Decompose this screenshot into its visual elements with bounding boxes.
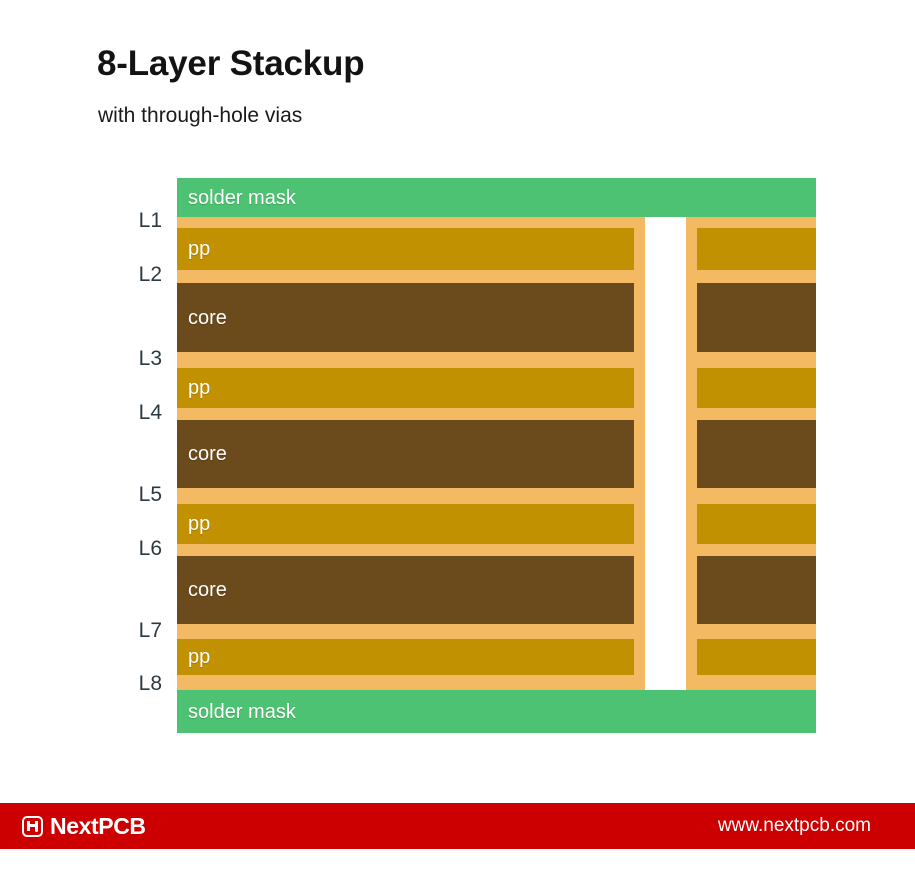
band-label-core-1: core: [188, 308, 227, 328]
nextpcb-logo-icon: [22, 816, 43, 837]
stackup-band-copper-l2: [177, 270, 816, 283]
via-plating-wall-right: [686, 217, 697, 690]
stackup-band-copper-l4: [177, 408, 816, 420]
stackup-band-core-1: core: [177, 283, 816, 352]
stackup-band-core-3: core: [177, 556, 816, 624]
via-barrel-hole: [645, 217, 686, 690]
stackup-band-copper-l3: [177, 352, 816, 368]
band-label-prepreg-3: pp: [188, 514, 210, 534]
footer-bar: NextPCB www.nextpcb.com: [0, 803, 915, 849]
stackup-band-core-2: core: [177, 420, 816, 488]
stackup-band-copper-l1: [177, 217, 816, 228]
stackup-band-solder-mask-top: solder mask: [177, 178, 816, 217]
layer-marker-l7: L7: [102, 619, 162, 643]
band-label-solder-mask-bottom: solder mask: [188, 702, 296, 722]
layer-marker-l1: L1: [102, 209, 162, 233]
band-label-prepreg-4: pp: [188, 647, 210, 667]
layer-marker-l5: L5: [102, 483, 162, 507]
stackup-band-copper-l5: [177, 488, 816, 504]
layer-marker-l8: L8: [102, 672, 162, 696]
band-label-prepreg-1: pp: [188, 239, 210, 259]
band-label-solder-mask-top: solder mask: [188, 188, 296, 208]
layer-marker-l3: L3: [102, 347, 162, 371]
stackup-band-copper-l7: [177, 624, 816, 639]
layer-marker-l4: L4: [102, 401, 162, 425]
stackup-band-prepreg-3: pp: [177, 504, 816, 544]
stackup-band-prepreg-1: pp: [177, 228, 816, 270]
layer-marker-column: L1L2L3L4L5L6L7L8: [52, 0, 162, 760]
stackup-band-prepreg-4: pp: [177, 639, 816, 675]
stackup-band-prepreg-2: pp: [177, 368, 816, 408]
stackup-band-copper-l6: [177, 544, 816, 556]
stackup-band-solder-mask-bottom: solder mask: [177, 690, 816, 733]
stackup-band-copper-l8: [177, 675, 816, 690]
brand-group: NextPCB: [22, 803, 146, 849]
band-label-core-3: core: [188, 580, 227, 600]
via-plating-wall-left: [634, 217, 645, 690]
band-label-core-2: core: [188, 444, 227, 464]
band-label-prepreg-2: pp: [188, 378, 210, 398]
footer-website-url: www.nextpcb.com: [718, 803, 871, 849]
pcb-stackup-diagram: solder maskppcoreppcoreppcoreppsolder ma…: [0, 0, 915, 760]
layer-marker-l2: L2: [102, 263, 162, 287]
brand-name: NextPCB: [50, 813, 146, 840]
layer-marker-l6: L6: [102, 537, 162, 561]
